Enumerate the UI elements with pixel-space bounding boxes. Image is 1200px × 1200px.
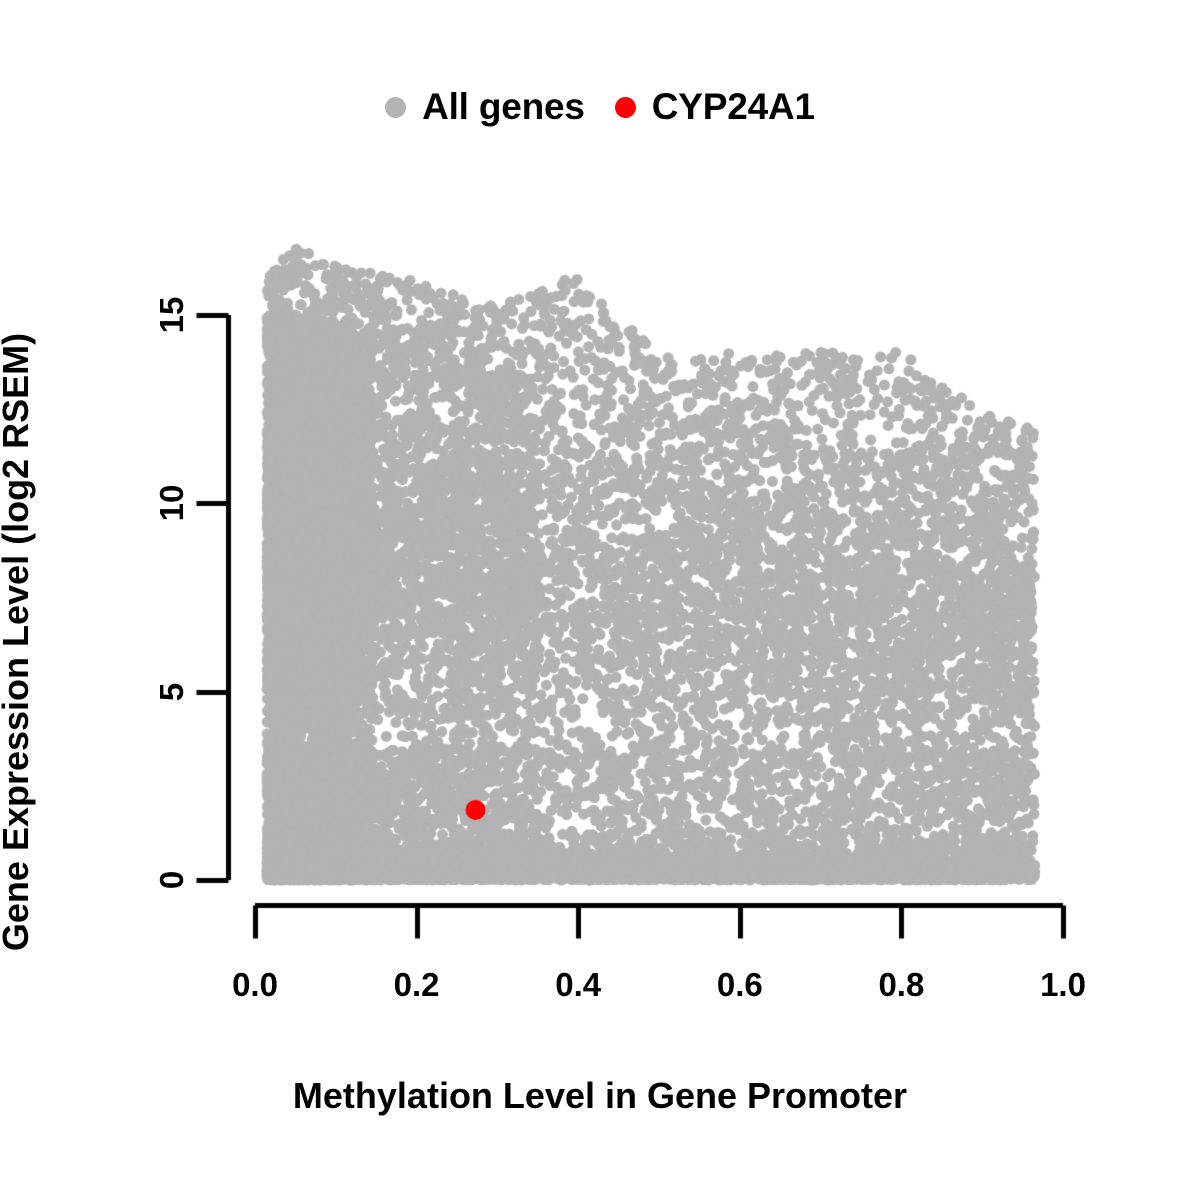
y-tick-label: 10 (153, 485, 191, 522)
legend-label-cyp24a1: CYP24A1 (652, 86, 815, 128)
legend-entry-cyp24a1: CYP24A1 (615, 86, 815, 128)
legend-label-all-genes: All genes (422, 86, 585, 128)
scatter-plot-canvas (0, 0, 1200, 1200)
legend-marker-cyp24a1-icon (615, 97, 636, 118)
legend: All genes CYP24A1 (0, 78, 1200, 136)
y-tick-label: 5 (153, 682, 191, 700)
x-tick-label: 0.2 (394, 966, 440, 1004)
x-tick-label: 0.8 (878, 966, 924, 1004)
y-tick-label: 15 (153, 297, 191, 334)
x-axis-title: Methylation Level in Gene Promoter (0, 1075, 1200, 1117)
scatter-plot-figure: All genes CYP24A1 Gene Expression Level … (0, 0, 1200, 1200)
x-tick-label: 0.6 (717, 966, 763, 1004)
x-tick-label: 1.0 (1040, 966, 1086, 1004)
x-tick-label: 0.4 (555, 966, 601, 1004)
x-tick-label: 0.0 (232, 966, 278, 1004)
legend-marker-all-genes-icon (385, 97, 406, 118)
legend-entry-all-genes: All genes (385, 86, 585, 128)
y-tick-label: 0 (153, 871, 191, 889)
